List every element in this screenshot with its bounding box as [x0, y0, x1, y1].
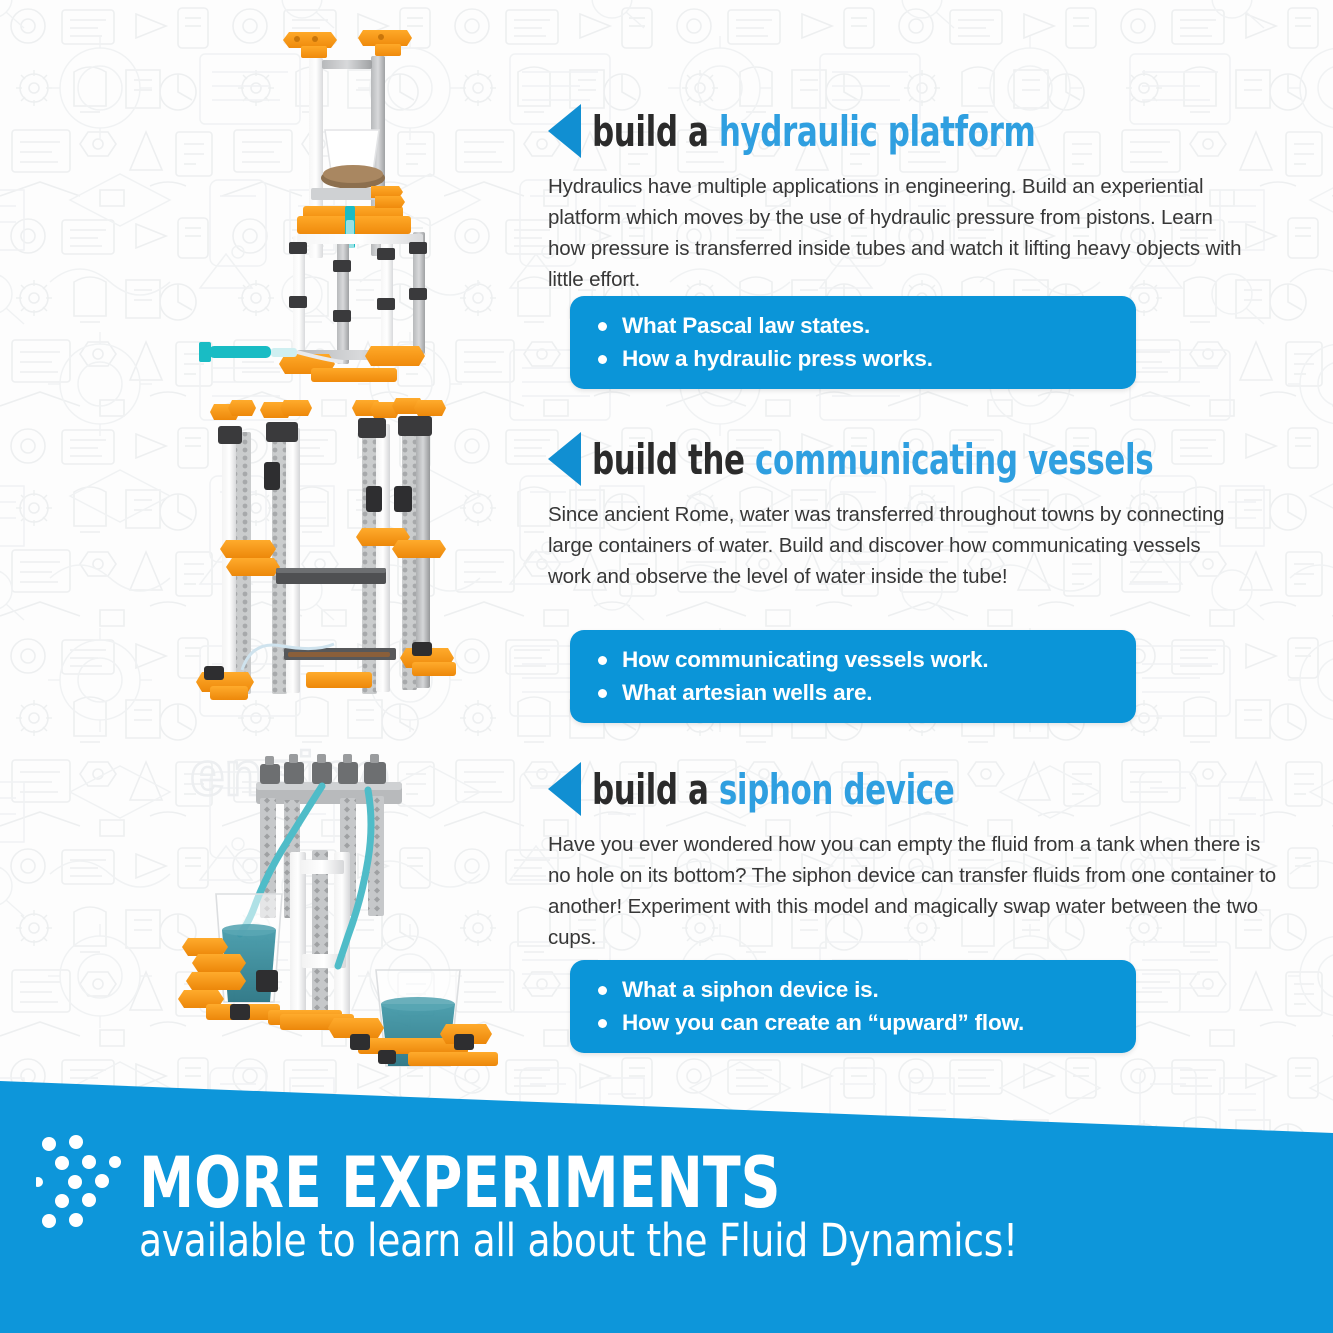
headline-highlight: communicating vessels: [755, 435, 1153, 484]
callout-communicating-vessels: How communicating vessels work. What art…: [570, 630, 1136, 723]
section-heading-row: build the communicating vessels: [548, 432, 1288, 488]
section-body-text: Have you ever wondered how you can empty…: [548, 829, 1283, 953]
section-siphon-device: build a siphon device Have you ever wond…: [548, 762, 1308, 953]
banner-title: MORE EXPERIMENTS: [139, 1148, 781, 1218]
banner-subtitle: available to learn all about the Fluid D…: [139, 1218, 1018, 1263]
callout-list: What Pascal law states. How a hydraulic …: [596, 309, 1136, 375]
triangle-left-icon: [548, 432, 581, 486]
callout-bullet: What a siphon device is.: [596, 973, 1136, 1006]
headline-highlight: hydraulic platform: [719, 107, 1036, 156]
dot-chevron-logo-icon: [36, 1132, 140, 1236]
section-body-text: Since ancient Rome, water was transferre…: [548, 499, 1248, 592]
callout-bullet: What artesian wells are.: [596, 676, 1136, 709]
triangle-left-icon: [548, 104, 581, 158]
headline-prefix: build a: [592, 107, 719, 156]
section-headline: build a siphon device: [592, 769, 954, 811]
headline-prefix: build a: [592, 765, 719, 814]
section-body-text: Hydraulics have multiple applications in…: [548, 171, 1248, 295]
section-heading-row: build a hydraulic platform: [548, 104, 1288, 160]
section-heading-row: build a siphon device: [548, 762, 1308, 818]
section-headline: build the communicating vessels: [592, 439, 1153, 481]
callout-bullet: How a hydraulic press works.: [596, 342, 1136, 375]
poster-page: ensino: [0, 0, 1333, 1333]
section-headline: build a hydraulic platform: [592, 111, 1035, 153]
callout-bullet: How communicating vessels work.: [596, 643, 1136, 676]
triangle-left-icon: [548, 762, 581, 816]
section-communicating-vessels: build the communicating vessels Since an…: [548, 432, 1288, 592]
section-hydraulic-platform: build a hydraulic platform Hydraulics ha…: [548, 104, 1288, 295]
headline-highlight: siphon device: [719, 765, 955, 814]
callout-list: How communicating vessels work. What art…: [596, 643, 1136, 709]
callout-bullet: What Pascal law states.: [596, 309, 1136, 342]
headline-prefix: build the: [592, 435, 755, 484]
callout-list: What a siphon device is. How you can cre…: [596, 973, 1136, 1039]
callout-siphon-device: What a siphon device is. How you can cre…: [570, 960, 1136, 1053]
callout-bullet: How you can create an “upward” flow.: [596, 1006, 1136, 1039]
callout-hydraulic-platform: What Pascal law states. How a hydraulic …: [570, 296, 1136, 389]
